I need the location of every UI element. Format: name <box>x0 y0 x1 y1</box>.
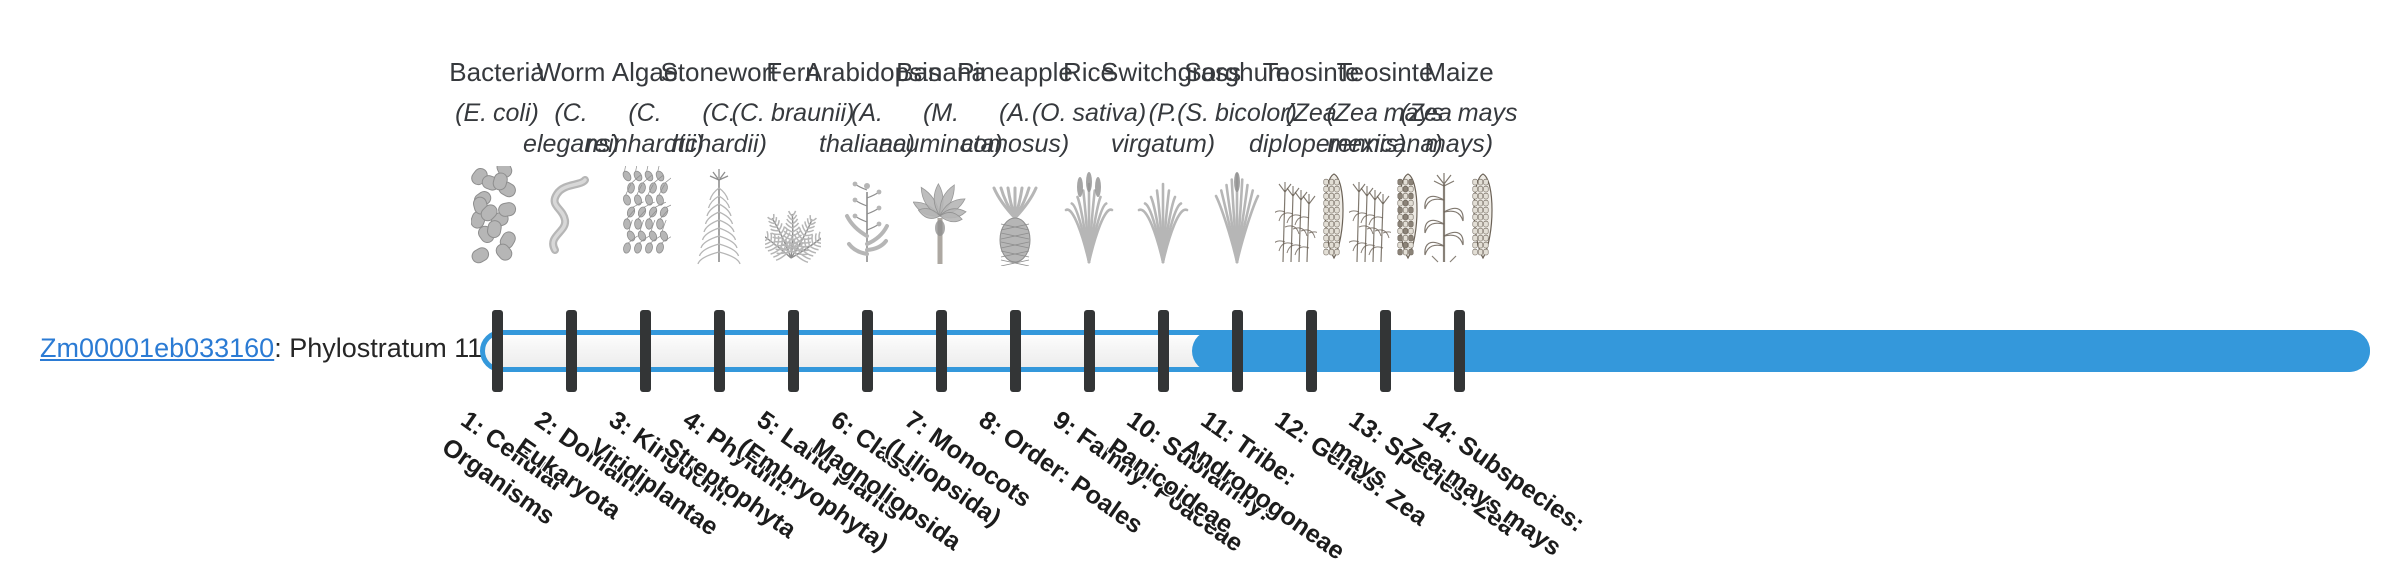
timeline-tick-2 <box>566 310 577 392</box>
timeline-tick-5 <box>788 310 799 392</box>
timeline-tick-14 <box>1454 310 1465 392</box>
timeline-tick-3 <box>640 310 651 392</box>
gene-label-separator: : <box>274 333 289 363</box>
maize-icon <box>1414 166 1504 266</box>
phylostratum-value: Phylostratum 11 <box>289 333 482 363</box>
timeline-tick-4 <box>714 310 725 392</box>
timeline-tick-10 <box>1158 310 1169 392</box>
rank-number: 12: <box>1270 406 1316 450</box>
timeline-tick-12 <box>1306 310 1317 392</box>
timeline-tick-6 <box>862 310 873 392</box>
phylostratum-bar-fill <box>1192 330 2370 372</box>
phylostratum-figure: Zm00001eb033160: Phylostratum 11 Bacteri… <box>0 0 2400 580</box>
timeline-tick-13 <box>1380 310 1391 392</box>
timeline-tick-7 <box>936 310 947 392</box>
species-scientific-name: (Zea mays mays) <box>1397 98 1521 161</box>
timeline-tick-9 <box>1084 310 1095 392</box>
phylostratum-bar-track[interactable] <box>480 330 2370 372</box>
timeline-tick-1 <box>492 310 503 392</box>
species-header-14: Maize(Zea mays mays) <box>1397 56 1521 160</box>
gene-phylostratum-label: Zm00001eb033160: Phylostratum 11 <box>40 332 460 364</box>
species-common-name: Maize <box>1397 56 1521 89</box>
timeline-tick-8 <box>1010 310 1021 392</box>
timeline-tick-11 <box>1232 310 1243 392</box>
gene-id-link[interactable]: Zm00001eb033160 <box>40 333 274 363</box>
